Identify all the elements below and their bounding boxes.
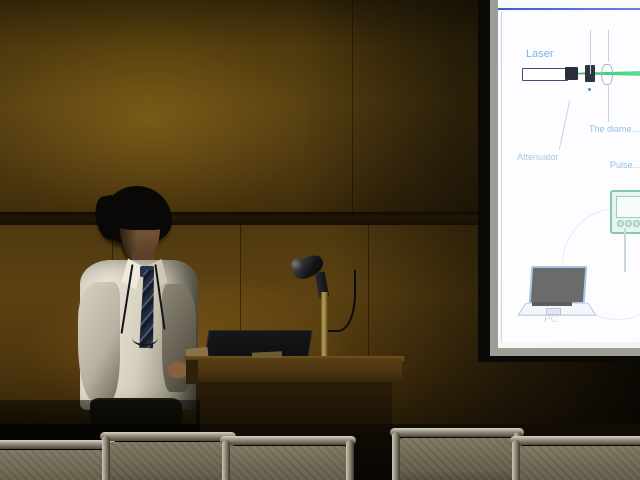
pulse-label: Pulse… [610,160,640,170]
chair-rail [510,436,640,445]
chair-rail [0,440,116,449]
diameter-label: The diame… [589,124,640,134]
chair-back [400,438,514,480]
leader-dot [588,88,591,91]
laptop-screen-icon [529,266,588,304]
pc-label: PC [544,314,558,325]
chair-leg [512,440,520,480]
chair-leg [102,436,110,480]
instrument-knob [625,220,632,227]
chair [390,428,524,480]
presenter-left-arm [78,282,120,402]
chair-back [110,442,226,480]
instrument-display [616,196,640,218]
slide-title-bar: …havior of inter… [498,0,640,8]
panel-seam [352,0,353,216]
leader-line [559,100,570,149]
projection-screen: …havior of inter… Laser Attenuator The d… [498,0,640,348]
chair-rail [220,436,356,445]
leader-line [608,30,609,62]
slide-title-rule [498,8,640,10]
slide-title: …havior of inter… [508,0,634,2]
chair [0,440,116,480]
lectern-side [186,360,198,384]
leader-line [590,30,591,74]
instrument-cable [624,228,626,272]
chair-back [520,446,640,480]
chair [100,432,236,480]
chair [220,436,356,480]
chair-back [0,450,106,480]
attenuator-label: Attenuator [517,152,559,162]
chair-rail [100,432,236,441]
chair-rail [390,428,524,437]
leader-line [608,86,609,122]
chair-leg [222,440,230,480]
laser-tube-icon [522,68,568,81]
instrument-knob [633,220,640,227]
chair-leg [392,432,400,480]
lens-icon [601,64,613,83]
chair [510,436,640,480]
presenter-lanyard-loop [132,330,158,346]
laser-label: Laser [526,48,554,60]
instrument-knob [617,220,624,227]
presentation-photo: …havior of inter… Laser Attenuator The d… [0,0,640,480]
chair-back [230,446,346,480]
laptop-keyboard-icon [532,302,572,306]
lectern-top [186,358,402,384]
slide-body: Laser Attenuator The diame… Pulse… [501,12,640,342]
chair-leg [346,440,354,480]
laser-head-icon [565,67,578,80]
